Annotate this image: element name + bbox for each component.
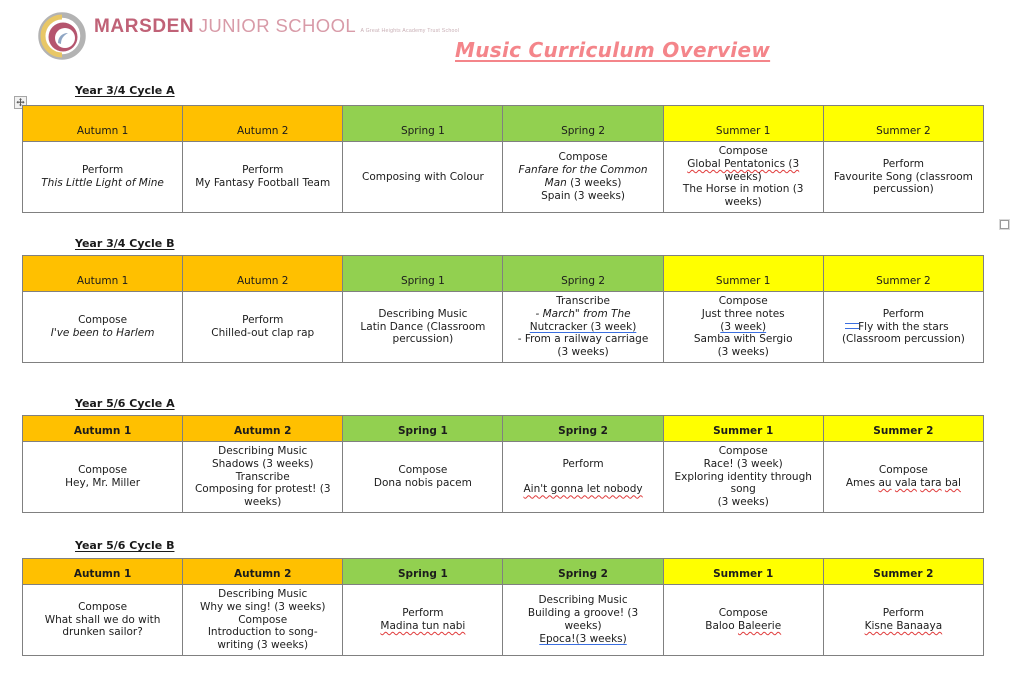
cell-line: Building a groove! (3 bbox=[507, 607, 658, 620]
term-header-summer-1: Summer 1 bbox=[663, 106, 823, 142]
cell-line: Introduction to song- bbox=[187, 626, 338, 639]
cell-line: Compose bbox=[27, 464, 178, 477]
cell-line bbox=[507, 471, 658, 484]
cell-line: Perform bbox=[187, 314, 338, 327]
cell-line: Compose bbox=[668, 607, 819, 620]
term-header-summer-1: Summer 1 bbox=[663, 416, 823, 442]
table-cell[interactable]: Describing MusicWhy we sing! (3 weeks)Co… bbox=[183, 585, 343, 656]
cell-line: Ames au vala tara bal bbox=[828, 477, 979, 490]
term-header-summer-1: Summer 1 bbox=[663, 559, 823, 585]
table-cell[interactable]: Describing MusicLatin Dance (Classroompe… bbox=[343, 292, 503, 363]
marsden-swirl-logo-icon bbox=[38, 12, 86, 60]
table-header-row: Autumn 1 Autumn 2 Spring 1 Spring 2 Summ… bbox=[23, 256, 984, 292]
table-header-row: Autumn 1 Autumn 2 Spring 1 Spring 2 Summ… bbox=[23, 106, 984, 142]
cell-line: Describing Music bbox=[347, 308, 498, 321]
cell-line: Compose bbox=[668, 295, 819, 308]
table-cell[interactable]: PerformMadina tun nabi bbox=[343, 585, 503, 656]
table-row: ComposeI've been to Harlem PerformChille… bbox=[23, 292, 984, 363]
cell-line: weeks) bbox=[668, 171, 819, 184]
term-header-autumn-2: Autumn 2 bbox=[183, 106, 343, 142]
cell-line: percussion) bbox=[828, 183, 979, 196]
cell-line: weeks) bbox=[507, 620, 658, 633]
cell-line: Compose bbox=[507, 151, 658, 164]
cell-line: (3 weeks) bbox=[507, 346, 658, 359]
term-header-summer-1: Summer 1 bbox=[663, 256, 823, 292]
table-resize-handle[interactable] bbox=[1000, 220, 1009, 229]
term-header-autumn-1: Autumn 1 bbox=[23, 559, 183, 585]
cell-line: Fanfare for the Common bbox=[507, 164, 658, 177]
cell-line: Composing with Colour bbox=[347, 171, 498, 184]
cell-line: Compose bbox=[27, 601, 178, 614]
term-header-spring-2: Spring 2 bbox=[503, 559, 663, 585]
term-header-summer-2: Summer 2 bbox=[823, 106, 983, 142]
cell-line: Compose bbox=[668, 445, 819, 458]
cell-line: Compose bbox=[668, 145, 819, 158]
cell-line: Composing for protest! (3 bbox=[187, 483, 338, 496]
cell-line: song bbox=[668, 483, 819, 496]
cell-line: Epoca!(3 weeks) bbox=[507, 633, 658, 646]
term-header-autumn-2: Autumn 2 bbox=[183, 559, 343, 585]
cell-line: Favourite Song (classroom bbox=[828, 171, 979, 184]
table-cell[interactable]: ComposeWhat shall we do withdrunken sail… bbox=[23, 585, 183, 656]
cell-line: - From a railway carriage bbox=[507, 333, 658, 346]
cell-line: Perform bbox=[347, 607, 498, 620]
cell-line: Describing Music bbox=[507, 594, 658, 607]
table-row: ComposeHey, Mr. Miller Describing MusicS… bbox=[23, 442, 984, 513]
table-cell[interactable]: Composing with Colour bbox=[343, 142, 503, 213]
cell-line: Madina tun nabi bbox=[347, 620, 498, 633]
cell-line: This Little Light of Mine bbox=[27, 177, 178, 190]
section-label-y56a: Year 5/6 Cycle A bbox=[75, 397, 175, 410]
table-cell[interactable]: ComposeBaloo Baleerie bbox=[663, 585, 823, 656]
cell-line: Perform bbox=[27, 164, 178, 177]
cell-line: Global Pentatonics (3 bbox=[668, 158, 819, 171]
table-cell[interactable]: ComposeI've been to Harlem bbox=[23, 292, 183, 363]
cell-line: percussion) bbox=[347, 333, 498, 346]
cell-line: Perform bbox=[507, 458, 658, 471]
term-header-autumn-1: Autumn 1 bbox=[23, 256, 183, 292]
table-row: PerformThis Little Light of Mine Perform… bbox=[23, 142, 984, 213]
cell-line: (Classroom percussion) bbox=[828, 333, 979, 346]
table-cell[interactable]: ComposeHey, Mr. Miller bbox=[23, 442, 183, 513]
table-header-row: Autumn 1 Autumn 2 Spring 1 Spring 2 Summ… bbox=[23, 559, 984, 585]
school-logo: MARSDEN JUNIOR SCHOOL A Great Heights Ac… bbox=[38, 12, 459, 60]
cell-line: Perform bbox=[828, 158, 979, 171]
cell-line: Transcribe bbox=[187, 471, 338, 484]
curriculum-table-y56b: Autumn 1 Autumn 2 Spring 1 Spring 2 Summ… bbox=[22, 558, 984, 656]
cell-line: Exploring identity through bbox=[668, 471, 819, 484]
cell-line: Race! (3 week) bbox=[668, 458, 819, 471]
cell-line: Man (3 weeks) bbox=[507, 177, 658, 190]
cell-line: (3 weeks) bbox=[668, 496, 819, 509]
table-cell[interactable]: ComposeDona nobis pacem bbox=[343, 442, 503, 513]
cell-line: writing (3 weeks) bbox=[187, 639, 338, 652]
table-cell[interactable]: ComposeRace! (3 week)Exploring identity … bbox=[663, 442, 823, 513]
cell-line: Ain't gonna let nobody bbox=[507, 483, 658, 496]
table-header-row: Autumn 1 Autumn 2 Spring 1 Spring 2 Summ… bbox=[23, 416, 984, 442]
cell-line: drunken sailor? bbox=[27, 626, 178, 639]
term-header-spring-1: Spring 1 bbox=[343, 416, 503, 442]
cell-line: Samba with Sergio bbox=[668, 333, 819, 346]
term-header-autumn-2: Autumn 2 bbox=[183, 256, 343, 292]
logo-wordmark: MARSDEN JUNIOR SCHOOL A Great Heights Ac… bbox=[94, 12, 459, 37]
table-cell[interactable]: ComposeAmes au vala tara bal bbox=[823, 442, 983, 513]
cell-line: The Horse in motion (3 bbox=[668, 183, 819, 196]
cell-line: Nutcracker (3 week) bbox=[507, 321, 658, 334]
cell-line: My Fantasy Football Team bbox=[187, 177, 338, 190]
cell-line: Chilled-out clap rap bbox=[187, 327, 338, 340]
table-cell[interactable]: ComposeJust three notes(3 week)Samba wit… bbox=[663, 292, 823, 363]
table-cell[interactable]: Describing MusicShadows (3 weeks)Transcr… bbox=[183, 442, 343, 513]
cell-line: Hey, Mr. Miller bbox=[27, 477, 178, 490]
term-header-spring-1: Spring 1 bbox=[343, 559, 503, 585]
table-cell[interactable]: ComposeFanfare for the CommonMan (3 week… bbox=[503, 142, 663, 213]
logo-tagline: A Great Heights Academy Trust School bbox=[361, 28, 460, 34]
cell-line: What shall we do with bbox=[27, 614, 178, 627]
cell-line: Compose bbox=[828, 464, 979, 477]
term-header-summer-2: Summer 2 bbox=[823, 559, 983, 585]
term-header-spring-1: Spring 1 bbox=[343, 106, 503, 142]
cell-line: - March" from The bbox=[507, 308, 658, 321]
table-cell[interactable]: PerformThis Little Light of Mine bbox=[23, 142, 183, 213]
cell-line: Baloo Baleerie bbox=[668, 620, 819, 633]
curriculum-table-y56a: Autumn 1 Autumn 2 Spring 1 Spring 2 Summ… bbox=[22, 415, 984, 513]
page-title: Music Curriculum Overview bbox=[455, 38, 770, 62]
table-cell[interactable]: PerformKisne Banaaya bbox=[823, 585, 983, 656]
logo-name-line2: JUNIOR SCHOOL bbox=[199, 15, 356, 36]
table-cell[interactable]: PerformMy Fantasy Football Team bbox=[183, 142, 343, 213]
cell-line: I've been to Harlem bbox=[27, 327, 178, 340]
cell-line: Transcribe bbox=[507, 295, 658, 308]
cell-line: (3 week) bbox=[668, 321, 819, 334]
cell-line: Latin Dance (Classroom bbox=[347, 321, 498, 334]
cell-line: weeks) bbox=[668, 196, 819, 209]
term-header-spring-1: Spring 1 bbox=[343, 256, 503, 292]
cell-line: Kisne Banaaya bbox=[828, 620, 979, 633]
logo-name-line1: MARSDEN bbox=[94, 16, 194, 37]
cell-line: Dona nobis pacem bbox=[347, 477, 498, 490]
term-header-summer-2: Summer 2 bbox=[823, 416, 983, 442]
table-cell[interactable]: PerformFavourite Song (classroompercussi… bbox=[823, 142, 983, 213]
cell-line: weeks) bbox=[187, 496, 338, 509]
cell-line: Spain (3 weeks) bbox=[507, 190, 658, 203]
term-header-spring-2: Spring 2 bbox=[503, 416, 663, 442]
cell-line: Perform bbox=[187, 164, 338, 177]
cell-line: Shadows (3 weeks) bbox=[187, 458, 338, 471]
cell-line: Perform bbox=[828, 308, 979, 321]
table-cell[interactable]: Transcribe- March" from TheNutcracker (3… bbox=[503, 292, 663, 363]
cell-line: Just three notes bbox=[668, 308, 819, 321]
cell-line: Compose bbox=[187, 614, 338, 627]
cell-line: Perform bbox=[828, 607, 979, 620]
table-row: ComposeWhat shall we do withdrunken sail… bbox=[23, 585, 984, 656]
term-header-autumn-2: Autumn 2 bbox=[183, 416, 343, 442]
cell-line: (3 weeks) bbox=[668, 346, 819, 359]
table-cell[interactable]: Describing MusicBuilding a groove! (3wee… bbox=[503, 585, 663, 656]
table-cell[interactable]: Perform Ain't gonna let nobody bbox=[503, 442, 663, 513]
curriculum-table-y34a: Autumn 1 Autumn 2 Spring 1 Spring 2 Summ… bbox=[22, 105, 984, 213]
term-header-spring-2: Spring 2 bbox=[503, 256, 663, 292]
cell-line: Compose bbox=[27, 314, 178, 327]
cell-line: Describing Music bbox=[187, 445, 338, 458]
document-page: MARSDEN JUNIOR SCHOOL A Great Heights Ac… bbox=[0, 0, 1024, 681]
section-label-y34a: Year 3/4 Cycle A bbox=[75, 84, 175, 97]
cell-line: Why we sing! (3 weeks) bbox=[187, 601, 338, 614]
term-header-spring-2: Spring 2 bbox=[503, 106, 663, 142]
section-label-y56b: Year 5/6 Cycle B bbox=[75, 539, 174, 552]
section-label-y34b: Year 3/4 Cycle B bbox=[75, 237, 174, 250]
term-header-summer-2: Summer 2 bbox=[823, 256, 983, 292]
table-cell[interactable]: ComposeGlobal Pentatonics (3weeks)The Ho… bbox=[663, 142, 823, 213]
table-cell[interactable]: PerformChilled-out clap rap bbox=[183, 292, 343, 363]
term-header-autumn-1: Autumn 1 bbox=[23, 106, 183, 142]
cell-line: Compose bbox=[347, 464, 498, 477]
term-header-autumn-1: Autumn 1 bbox=[23, 416, 183, 442]
curriculum-table-y34b: Autumn 1 Autumn 2 Spring 1 Spring 2 Summ… bbox=[22, 255, 984, 363]
cell-line: Describing Music bbox=[187, 588, 338, 601]
grammar-change-marker bbox=[845, 323, 859, 329]
